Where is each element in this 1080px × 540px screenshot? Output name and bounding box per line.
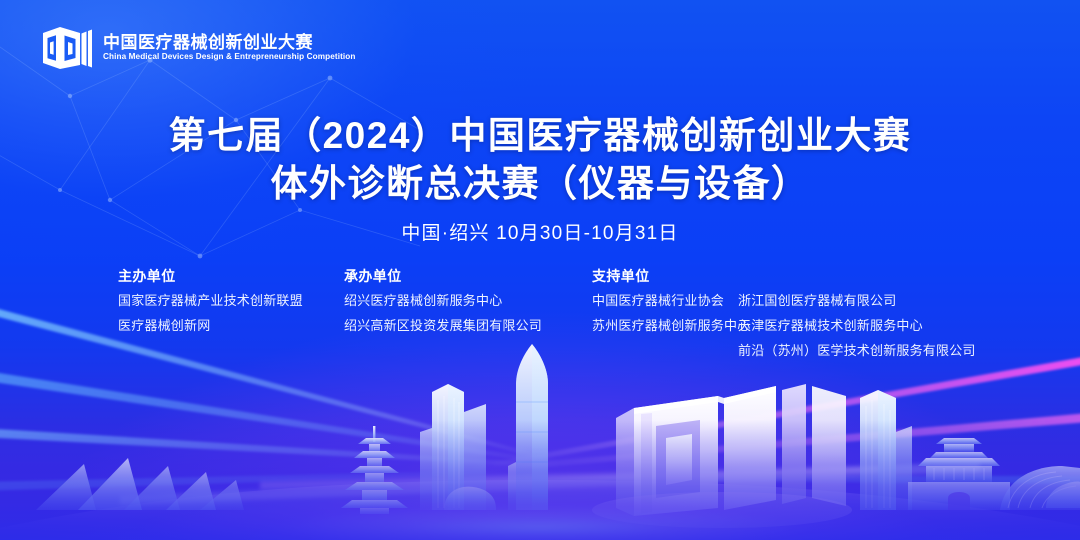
open-book-door-logo-icon bbox=[40, 24, 94, 72]
brand-name-en: China Medical Devices Design & Entrepren… bbox=[103, 53, 355, 61]
organizer-item: 绍兴高新区投资发展集团有限公司 bbox=[344, 318, 542, 334]
brand-name-cn: 中国医疗器械创新创业大赛 bbox=[103, 34, 355, 51]
glass-skyscraper bbox=[420, 384, 496, 510]
event-poster: 中国医疗器械创新创业大赛 China Medical Devices Desig… bbox=[0, 0, 1080, 540]
organizer-column-support-extra: 浙江国创医疗器械有限公司 天津医疗器械技术创新服务中心 前沿（苏州）医学技术创新… bbox=[738, 268, 976, 368]
organizer-item: 绍兴医疗器械创新服务中心 bbox=[344, 293, 542, 309]
modern-tower bbox=[860, 390, 912, 510]
competition-logo-monument bbox=[508, 384, 852, 528]
hero-title-line-2: 体外诊断总决赛（仪器与设备） bbox=[0, 160, 1080, 208]
pagoda-tower bbox=[341, 426, 408, 514]
hero-title-block: 第七届（2024）中国医疗器械创新创业大赛 体外诊断总决赛（仪器与设备） bbox=[0, 112, 1080, 208]
organizer-item: 苏州医疗器械创新服务中心 bbox=[592, 318, 750, 334]
organizer-item: 国家医疗器械产业技术创新联盟 bbox=[118, 293, 303, 309]
organizer-heading: 主办单位 bbox=[118, 268, 303, 284]
organizers-section: 主办单位 国家医疗器械产业技术创新联盟 医疗器械创新网 承办单位 绍兴医疗器械创… bbox=[0, 268, 1080, 368]
organizer-item: 天津医疗器械技术创新服务中心 bbox=[738, 318, 976, 334]
organizer-heading: 支持单位 bbox=[592, 268, 750, 284]
organizer-item: 医疗器械创新网 bbox=[118, 318, 303, 334]
organizer-item: 浙江国创医疗器械有限公司 bbox=[738, 293, 976, 309]
hero-subtitle-location-date: 中国·绍兴 10月30日-10月31日 bbox=[0, 218, 1080, 245]
hero-title-line-1: 第七届（2024）中国医疗器械创新创业大赛 bbox=[0, 112, 1080, 160]
organizer-heading: 承办单位 bbox=[344, 268, 542, 284]
opera-house-silhouette bbox=[36, 458, 244, 510]
organizer-column-support: 支持单位 中国医疗器械行业协会 苏州医疗器械创新服务中心 bbox=[592, 268, 750, 343]
traditional-city-gate bbox=[908, 438, 1010, 510]
organizer-column-host: 主办单位 国家医疗器械产业技术创新联盟 医疗器械创新网 bbox=[118, 268, 303, 343]
organizer-item: 前沿（苏州）医学技术创新服务有限公司 bbox=[738, 343, 976, 359]
organizer-item: 中国医疗器械行业协会 bbox=[592, 293, 750, 309]
organizer-column-undertaker: 承办单位 绍兴医疗器械创新服务中心 绍兴高新区投资发展集团有限公司 bbox=[344, 268, 542, 343]
city-skyline-artwork bbox=[0, 340, 1080, 540]
brand-logo-block: 中国医疗器械创新创业大赛 China Medical Devices Desig… bbox=[40, 24, 355, 72]
